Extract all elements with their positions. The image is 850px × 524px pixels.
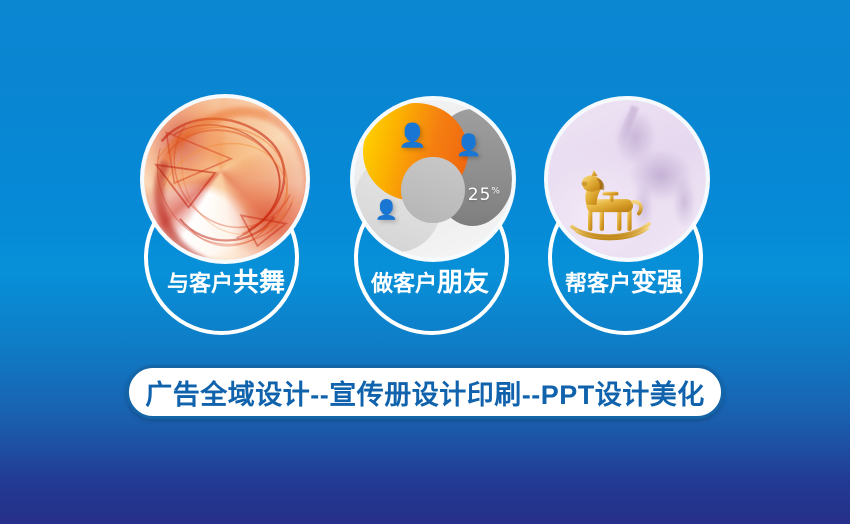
photo-circle-3 [548, 100, 706, 258]
photo-circle-1 [144, 98, 306, 260]
feature-item-1[interactable]: 与客户共舞 [126, 92, 326, 342]
person-presenter-icon: 👤 [398, 124, 427, 147]
slide-canvas: 与客户共舞 👤 👤 👤 25% [0, 0, 850, 524]
caption-bold-1: 共舞 [233, 267, 285, 297]
caption-light-3: 帮客户 [565, 271, 631, 296]
caption-light-2: 做客户 [371, 271, 437, 296]
feature-item-2[interactable]: 👤 👤 👤 25% 做客户朋友 [330, 92, 530, 342]
infographic-center-circle [401, 157, 464, 223]
percent-label: 25% [468, 185, 501, 205]
feature-caption-1: 与客户共舞 [126, 262, 326, 299]
orange-smoke-swirl-icon [144, 98, 306, 260]
flat-infographic-circles-icon: 👤 👤 👤 25% [354, 100, 512, 258]
caption-bold-2: 朋友 [437, 267, 489, 297]
services-banner[interactable]: 广告全域设计--宣传册设计印刷--PPT设计美化 [126, 365, 724, 419]
percent-value: 25 [468, 185, 492, 205]
photo-circle-2: 👤 👤 👤 25% [354, 100, 512, 258]
person-at-desk-icon: 👤 [375, 201, 399, 220]
smoke-strands-icon [144, 98, 306, 260]
circle-group: 与客户共舞 👤 👤 👤 25% [0, 0, 850, 360]
feature-item-3[interactable]: 帮客户变强 [524, 92, 724, 342]
services-banner-text: 广告全域设计--宣传册设计印刷--PPT设计美化 [145, 373, 704, 412]
feature-caption-3: 帮客户变强 [524, 262, 724, 299]
feature-caption-2: 做客户朋友 [330, 262, 530, 299]
percent-sign: % [491, 187, 501, 197]
golden-rocking-horse-icon [548, 100, 706, 258]
caption-bold-3: 变强 [631, 267, 683, 297]
person-standing-icon: 👤 [456, 135, 482, 156]
caption-light-1: 与客户 [167, 271, 233, 296]
rocking-horse-shape-icon [567, 170, 655, 243]
